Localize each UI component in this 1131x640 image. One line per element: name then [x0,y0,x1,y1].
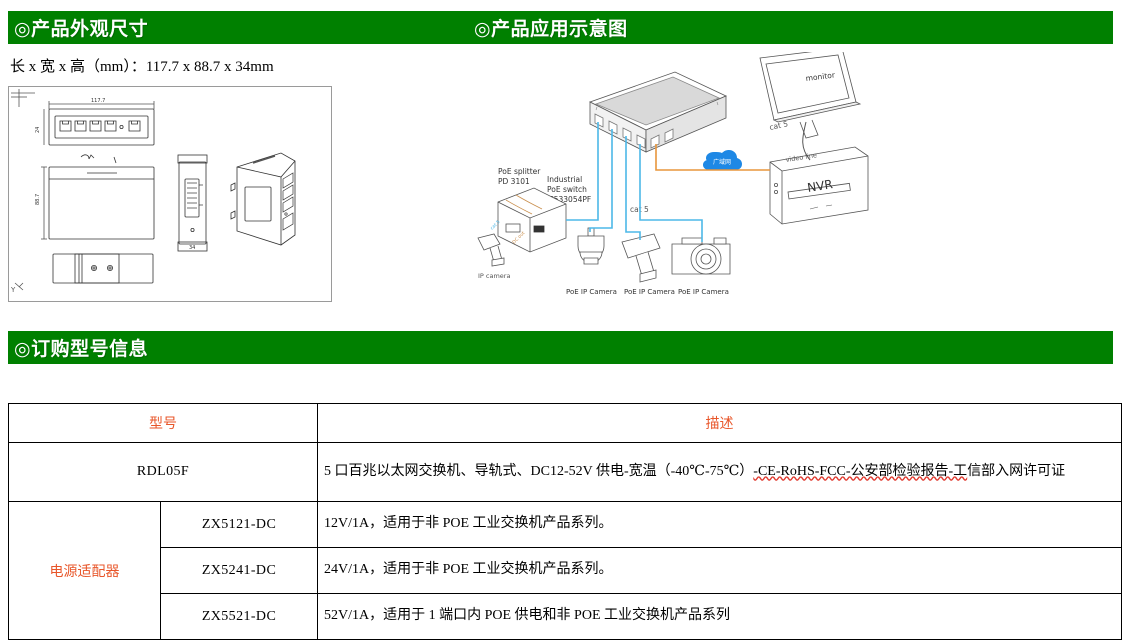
splitter-label-2: PD 3101 [498,177,530,186]
drawing-side-view: 88.7 [35,155,154,239]
model-description-zx5241: 24V/1A，适用于非 POE 工业交换机产品系列。 [318,548,1122,594]
drawing-bottom-view [53,254,153,283]
rj45-ports [60,121,140,131]
model-name-zx5121: ZX5121-DC [161,502,318,548]
ip-camera-label: IP camera [478,272,510,280]
column-header-model: 型号 [9,404,318,443]
column-header-description: 描述 [318,404,1122,443]
ordering-information-table: 型号 描述 RDL05F 5 口百兆以太网交换机、导轨式、DC12-52V 供电… [8,403,1122,640]
section-header-application: ◎产品应用示意图 [474,14,628,41]
desc-prefix: 5 口百兆以太网交换机、导轨式、DC12-52V 供电-宽温（-40℃-75℃） [324,464,753,479]
desc-suffix: 信部入网许可证 [967,464,1065,479]
cloud-label: 广域网 [713,158,731,166]
section-header-dimensions: ◎产品外观尺寸 [8,14,148,41]
poe-camera-bullet-graphic [622,234,660,282]
product-dimension-drawing: Y 117.7 [8,86,332,302]
application-topology-diagram: Industrial PoE switch IP533054PF 广域网 mon… [470,52,870,302]
splitter-label-1: PoE splitter [498,167,541,176]
model-name-zx5521: ZX5521-DC [161,594,318,640]
topology-switch-label-1: Industrial [547,175,582,184]
section-header-ordering: ◎订购型号信息 [8,334,148,361]
poe-switch-graphic [590,72,726,152]
svg-text:34: 34 [189,245,195,251]
drawing-end-view: 34 [178,155,207,251]
model-description-zx5521: 52V/1A，适用于 1 端口内 POE 供电和非 POE 工业交换机产品系列 [318,594,1122,640]
drawing-front-view: 117.7 24 [35,98,154,145]
svg-text:Y: Y [10,286,16,294]
model-name-rdl05f: RDL05F [9,443,318,502]
table-header-row: 型号 描述 [9,404,1122,443]
table-row: ZX5521-DC 52V/1A，适用于 1 端口内 POE 供电和非 POE … [9,594,1122,640]
desc-spellchecked: -CE-RoHS-FCC-公安部检验报告-工 [753,464,967,479]
svg-text:117.7: 117.7 [91,98,105,104]
topology-switch-label-2: PoE switch [547,185,587,194]
product-datasheet-page: ◎产品外观尺寸 ◎产品应用示意图 长 x 宽 x 高（mm）：117.7 x 8… [0,0,1131,605]
svg-text:88.7: 88.7 [35,194,41,205]
drawing-isometric-view [231,153,295,245]
table-row: ZX5241-DC 24V/1A，适用于非 POE 工业交换机产品系列。 [9,548,1122,594]
poe-camera-dslr-graphic [672,238,730,274]
wan-cloud-icon: 广域网 [703,150,742,170]
section-header-bar-top: ◎产品外观尺寸 ◎产品应用示意图 [8,11,1113,44]
cat5-label-right: cat 5 [769,119,789,132]
table-row: 电源适配器 ZX5121-DC 12V/1A，适用于非 POE 工业交换机产品系… [9,502,1122,548]
svg-text:24: 24 [35,127,41,133]
poe-camera-label-3: PoE IP Camera [678,288,729,296]
dimension-caption: 长 x 宽 x 高（mm）：117.7 x 88.7 x 34mm [10,55,274,76]
section-header-bar-ordering: ◎订购型号信息 [8,331,1113,364]
model-description-rdl05f: 5 口百兆以太网交换机、导轨式、DC12-52V 供电-宽温（-40℃-75℃）… [318,443,1122,502]
poe-camera-label-2: PoE IP Camera [624,288,675,296]
table-row: RDL05F 5 口百兆以太网交换机、导轨式、DC12-52V 供电-宽温（-4… [9,443,1122,502]
poe-camera-dome-graphic [578,228,604,264]
ip-camera-graphic [478,234,504,266]
model-description-zx5121: 12V/1A，适用于非 POE 工业交换机产品系列。 [318,502,1122,548]
model-name-zx5241: ZX5241-DC [161,548,318,594]
poe-camera-label-1: PoE IP Camera [566,288,617,296]
datum-marks: Y [10,89,35,294]
group-label-power-adapter: 电源适配器 [9,502,161,640]
